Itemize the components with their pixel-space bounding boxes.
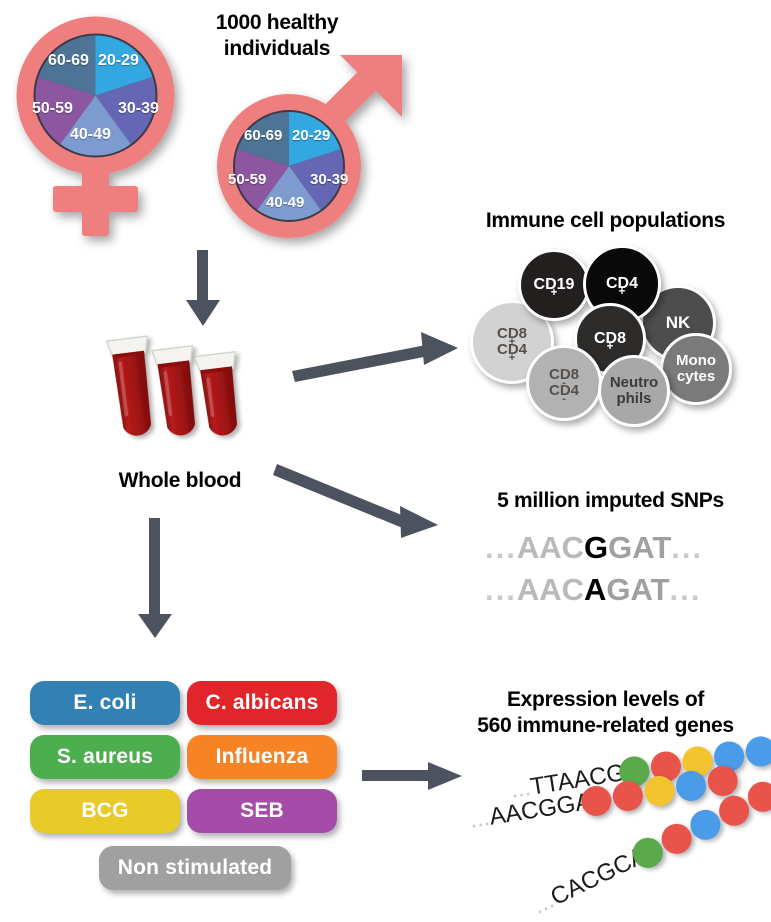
blood-tube-3 [195,352,246,438]
figure-canvas: 1000 healthy individuals [0,0,771,922]
immune-cell-cd19: CD19+ [518,249,590,321]
immune-cell-cluster: CD8+ CD4+ CD19+ NK CD4+ CD8+ CD8- CD4- M… [470,245,765,425]
male-pie-label-40-49: 40-49 [266,194,304,211]
immune-cell-cd8n-cd4n: CD8- CD4- [526,345,602,421]
strand-2-dot-4 [674,769,708,803]
stimulus-bcg-label: BCG [81,799,128,823]
stimulus-c-albicans-label: C. albicans [205,691,318,715]
cd8p-cd4p-line1: CD8+ [497,326,527,342]
male-pie-label-50-59: 50-59 [228,171,266,188]
female-pie-label-60-69: 60-69 [48,52,89,70]
stimulus-non-stimulated[interactable]: Non stimulated [99,846,291,890]
snp-sequence-2: ...AACAGAT... [485,572,701,608]
immune-title: Immune cell populations [440,208,771,234]
male-pie-label-60-69: 60-69 [244,127,282,144]
male-pie-label-30-39: 30-39 [310,171,348,188]
female-pie-label-40-49: 40-49 [70,126,111,144]
snp1-prefix: AAC [517,530,584,565]
female-symbol: 20-29 30-39 40-49 50-59 60-69 [8,8,208,243]
snp2-suffix: GAT [606,572,669,607]
cd19-label: CD19+ [534,277,575,294]
female-pie-label-20-29: 20-29 [98,52,139,70]
immune-cell-neutrophils: Neutro phils [598,355,670,427]
stimulus-c-albicans[interactable]: C. albicans [187,681,337,725]
strand-2-dot-2 [611,779,645,813]
male-symbol: 20-29 30-39 40-49 50-59 60-69 [206,46,411,246]
stimulus-bcg[interactable]: BCG [30,789,180,833]
cd8p-cd4p-line2: CD4+ [497,342,527,358]
snp1-variant: G [584,530,608,565]
male-pie-label-20-29: 20-29 [292,127,330,144]
whole-blood-label: Whole blood [70,468,290,494]
cd8n-cd4n-line2: CD4- [549,383,579,399]
arrow-cohort-to-blood [183,250,223,328]
snp1-trail-dots: ... [671,530,703,565]
snp2-prefix: AAC [517,572,584,607]
snp2-trail-dots: ... [670,572,702,607]
snp1-lead-dots: ... [485,530,517,565]
stimulus-s-aureus[interactable]: S. aureus [30,735,180,779]
snps-title: 5 million imputed SNPs [450,488,771,514]
snp2-variant: A [584,572,606,607]
snp2-lead-dots: ... [485,572,517,607]
arrow-blood-to-immune [290,325,465,385]
immune-cell-monocytes: Mono cytes [660,333,732,405]
female-pie-label-30-39: 30-39 [118,100,159,118]
stimulus-influenza-label: Influenza [216,745,309,769]
stimulus-seb-label: SEB [240,799,284,823]
stimulus-s-aureus-label: S. aureus [57,745,153,769]
monocytes-line2: cytes [677,369,715,385]
monocytes-line1: Mono [676,353,716,369]
strand-2-dot-3 [642,774,676,808]
snp-sequence-1: ...AACGGAT... [485,530,703,566]
neutrophils-line2: phils [616,391,651,407]
strand-1-dot-5 [744,734,771,768]
expression-title-line2: 560 immune-related genes [440,713,771,739]
cd8-label: CD8+ [594,331,626,348]
stimulus-e-coli[interactable]: E. coli [30,681,180,725]
neutrophils-line1: Neutro [610,375,658,391]
expression-title: Expression levels of 560 immune-related … [440,687,771,738]
arrow-blood-to-stimuli [135,518,175,640]
female-pie-label-50-59: 50-59 [32,100,73,118]
stimulus-seb[interactable]: SEB [187,789,337,833]
blood-tube-1 [107,336,160,438]
stimulus-non-stimulated-label: Non stimulated [118,856,272,880]
stimulus-e-coli-label: E. coli [73,691,136,715]
blood-tubes [105,330,265,455]
nk-label: NK [666,314,691,332]
arrow-blood-to-snps [275,440,460,545]
cd8n-cd4n-line1: CD8- [549,367,579,383]
arrow-stimuli-to-expression [362,760,467,792]
snp1-suffix: GAT [608,530,671,565]
cd4-label: CD4+ [606,276,638,293]
stimulus-influenza[interactable]: Influenza [187,735,337,779]
expression-title-line1: Expression levels of [440,687,771,713]
